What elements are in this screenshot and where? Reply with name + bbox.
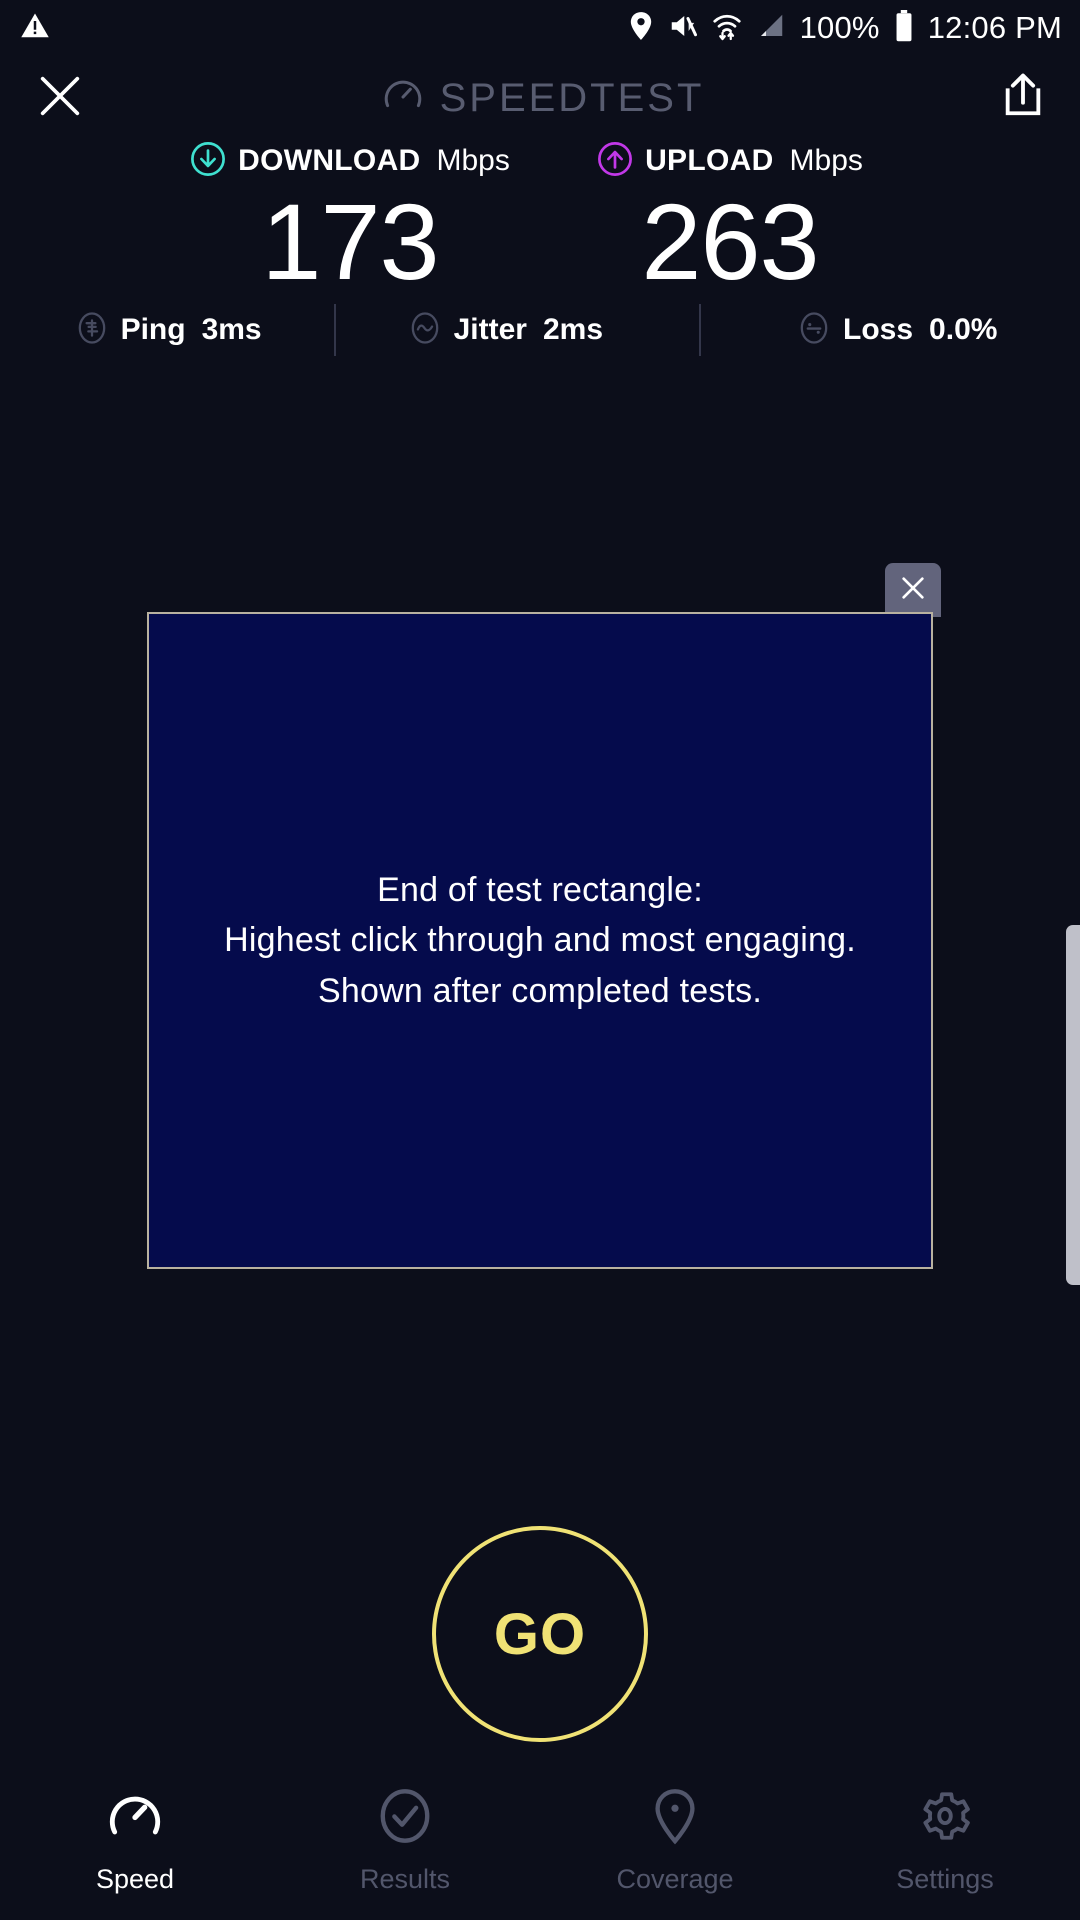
go-button[interactable]: GO [432, 1526, 648, 1742]
status-bar: 100% 12:06 PM [0, 0, 1080, 56]
stats-divider-2 [699, 304, 701, 356]
loss-label: Loss [843, 313, 913, 347]
brand-logo: SPEEDTEST [382, 75, 705, 122]
download-value: 173 [261, 188, 438, 296]
ad-close-button[interactable] [885, 563, 941, 617]
nav-label-settings: Settings [896, 1864, 994, 1895]
ad-line-2: Highest click through and most engaging. [224, 915, 856, 965]
jitter-value: 2ms [543, 313, 603, 347]
nav-label-speed: Speed [96, 1864, 174, 1895]
ad-line-3: Shown after completed tests. [224, 966, 856, 1016]
loss-icon [797, 311, 831, 350]
status-bar-right: 100% 12:06 PM [628, 10, 1062, 47]
check-circle-icon [376, 1787, 434, 1850]
battery-percent-label: 100% [800, 10, 880, 46]
cell-signal-icon [756, 11, 786, 46]
upload-unit: Mbps [790, 144, 863, 178]
ad-line-1: End of test rectangle: [224, 865, 856, 915]
app-header: SPEEDTEST [0, 58, 1080, 138]
advertisement-banner[interactable]: End of test rectangle: Highest click thr… [147, 612, 933, 1269]
bottom-navigation: Speed Results Coverage Settings [0, 1775, 1080, 1920]
vertical-scrollbar-thumb[interactable] [1066, 925, 1080, 1285]
share-icon[interactable] [1000, 71, 1046, 126]
close-icon[interactable] [34, 70, 86, 127]
nav-label-results: Results [360, 1864, 450, 1895]
nav-item-coverage[interactable]: Coverage [540, 1787, 810, 1895]
nav-item-settings[interactable]: Settings [810, 1787, 1080, 1895]
clock-label: 12:06 PM [928, 10, 1062, 46]
loss-value: 0.0% [929, 313, 997, 347]
upload-header: UPLOAD Mbps [597, 140, 863, 182]
ad-text: End of test rectangle: Highest click thr… [224, 865, 856, 1016]
map-pin-icon [646, 1787, 704, 1850]
connection-stats: Ping 3ms Jitter 2ms Loss 0.0% [0, 300, 1080, 360]
ping-label: Ping [121, 313, 186, 347]
gear-icon [916, 1787, 974, 1850]
nav-item-speed[interactable]: Speed [0, 1787, 270, 1895]
go-button-label: GO [494, 1601, 586, 1668]
upload-arrow-icon [597, 141, 633, 182]
speedometer-icon [382, 75, 424, 122]
ping-icon [75, 311, 109, 350]
wifi-transfer-icon [712, 11, 742, 46]
nav-item-results[interactable]: Results [270, 1787, 540, 1895]
stats-divider-1 [334, 304, 336, 356]
download-result: DOWNLOAD Mbps 173 [160, 140, 540, 296]
mute-icon [668, 11, 698, 46]
download-arrow-icon [190, 141, 226, 182]
download-unit: Mbps [437, 144, 510, 178]
status-bar-left [20, 11, 50, 46]
loss-stat: Loss 0.0% [797, 311, 997, 350]
ad-close-icon [897, 572, 929, 609]
battery-full-icon [894, 10, 914, 47]
jitter-icon [408, 311, 442, 350]
ping-value: 3ms [202, 313, 262, 347]
warning-triangle-icon [20, 11, 50, 46]
download-header: DOWNLOAD Mbps [190, 140, 510, 182]
jitter-stat: Jitter 2ms [408, 311, 603, 350]
jitter-label: Jitter [454, 313, 527, 347]
upload-label: UPLOAD [645, 144, 773, 178]
upload-value: 263 [641, 188, 818, 296]
speed-results: DOWNLOAD Mbps 173 UPLOAD Mbps 263 [0, 140, 1080, 296]
location-pin-icon [628, 11, 654, 46]
brand-title: SPEEDTEST [440, 76, 705, 121]
download-label: DOWNLOAD [238, 144, 420, 178]
speedometer-icon [106, 1787, 164, 1850]
nav-label-coverage: Coverage [616, 1864, 733, 1895]
upload-result: UPLOAD Mbps 263 [540, 140, 920, 296]
ping-stat: Ping 3ms [75, 311, 262, 350]
